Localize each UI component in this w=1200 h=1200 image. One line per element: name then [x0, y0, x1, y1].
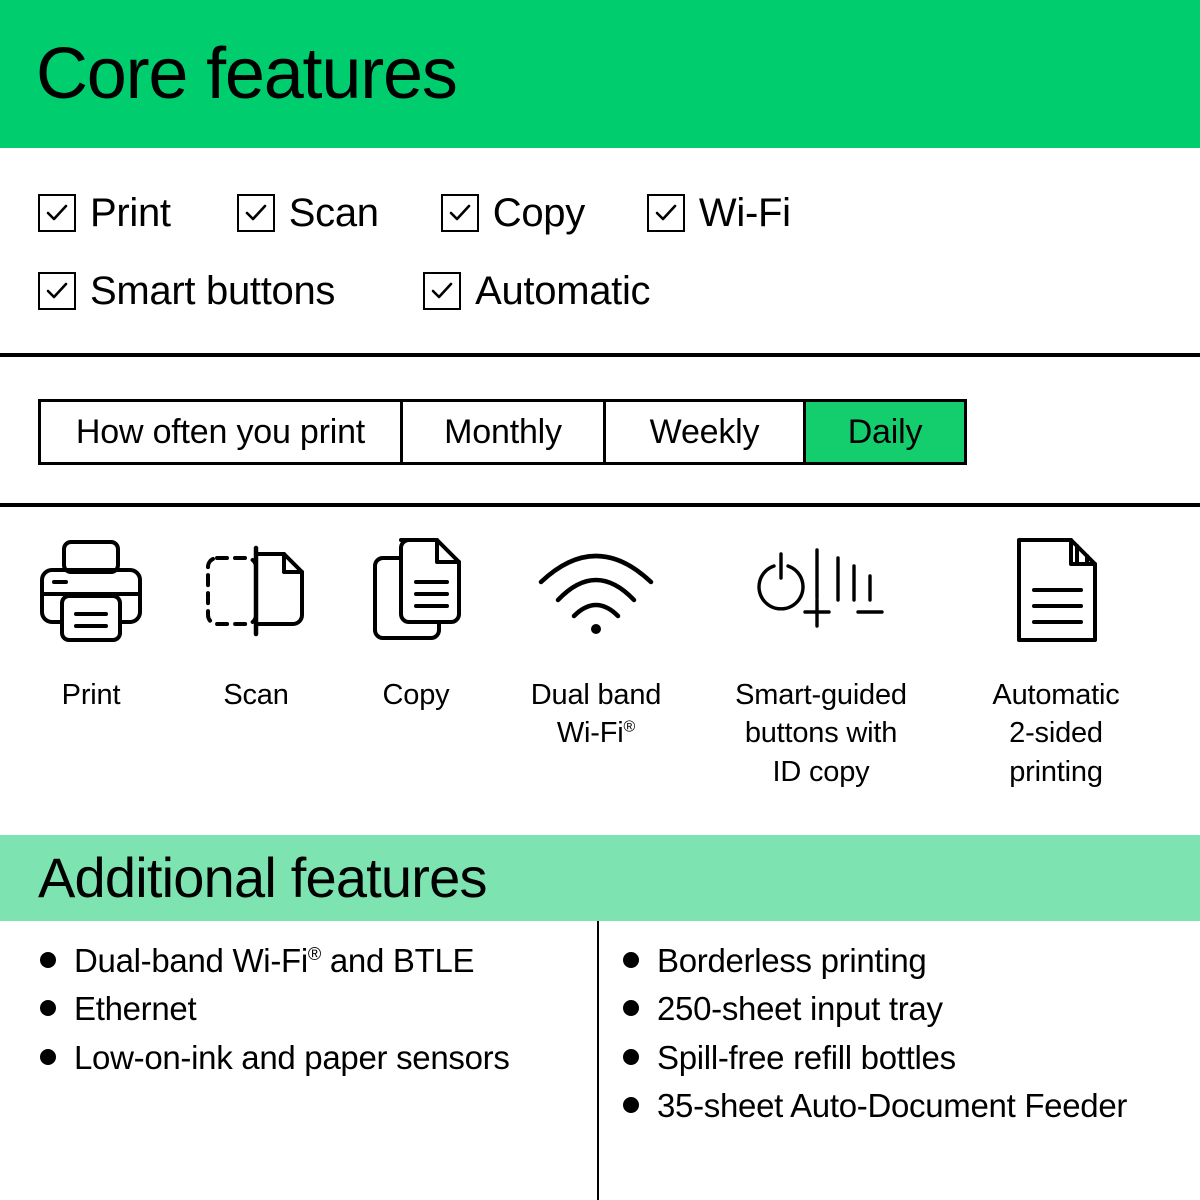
wifi-icon — [533, 520, 659, 660]
checkmark-icon — [441, 194, 479, 232]
core-features-banner: Core features — [0, 0, 1200, 148]
list-item-label: Ethernet — [74, 990, 196, 1028]
checkbox-label: Wi-Fi — [699, 193, 791, 233]
additional-features-right-column: Borderless printing 250-sheet input tray… — [597, 921, 1200, 1200]
bullet-icon — [623, 1097, 639, 1113]
checkmark-icon — [423, 272, 461, 310]
additional-features-left-column: Dual-band Wi-Fi® and BTLE Ethernet Low-o… — [0, 921, 597, 1200]
checkbox-item-wifi[interactable]: Wi-Fi — [647, 193, 791, 233]
feature-smart-guided-buttons: Smart-guided buttons with ID copy — [696, 520, 946, 791]
checkbox-item-scan[interactable]: Scan — [237, 193, 379, 233]
bullet-icon — [40, 1049, 56, 1065]
feature-label: Print — [62, 676, 121, 714]
duplex-document-icon — [1005, 520, 1107, 660]
checkmark-icon — [38, 272, 76, 310]
registered-mark: ® — [308, 944, 321, 964]
bullet-icon — [623, 952, 639, 968]
checkmark-icon — [237, 194, 275, 232]
list-item: 35-sheet Auto-Document Feeder — [623, 1087, 1200, 1125]
checkmark-icon — [38, 194, 76, 232]
core-features-checkbox-area: Print Scan Copy Wi-Fi — [0, 148, 1200, 355]
checkbox-label: Print — [90, 193, 171, 233]
checkbox-item-copy[interactable]: Copy — [441, 193, 585, 233]
frequency-option-weekly[interactable]: Weekly — [606, 402, 806, 462]
section-divider-top — [0, 353, 1200, 357]
checkbox-label: Scan — [289, 193, 379, 233]
smart-buttons-icon — [751, 520, 891, 660]
list-item-label: Spill-free refill bottles — [657, 1039, 956, 1077]
list-item-label: Low-on-ink and paper sensors — [74, 1039, 510, 1077]
checkbox-item-smart-buttons[interactable]: Smart buttons — [38, 271, 335, 311]
frequency-option-monthly[interactable]: Monthly — [403, 402, 606, 462]
bullet-icon — [40, 952, 56, 968]
list-item-label: Borderless printing — [657, 942, 926, 980]
checkbox-row-2: Smart buttons Automatic — [38, 258, 1200, 324]
print-frequency-selector: How often you print Monthly Weekly Daily — [38, 399, 967, 465]
printer-icon — [33, 520, 149, 660]
list-item-label: 250-sheet input tray — [657, 990, 943, 1028]
frequency-option-daily[interactable]: Daily — [806, 402, 964, 462]
additional-features-lists: Dual-band Wi-Fi® and BTLE Ethernet Low-o… — [0, 921, 1200, 1200]
checkbox-label: Automatic — [475, 271, 650, 311]
checkmark-icon — [647, 194, 685, 232]
bullet-icon — [623, 1049, 639, 1065]
checkbox-item-print[interactable]: Print — [38, 193, 171, 233]
registered-mark: ® — [624, 719, 636, 736]
checkbox-item-automatic[interactable]: Automatic — [423, 271, 650, 311]
frequency-question-label: How often you print — [41, 402, 403, 462]
feature-label: Scan — [223, 676, 288, 714]
copy-documents-icon — [361, 520, 471, 660]
feature-icon-row: Print Scan — [0, 520, 1200, 791]
list-item: Dual-band Wi-Fi® and BTLE — [40, 942, 597, 980]
core-features-title: Core features — [36, 38, 457, 110]
list-item-label: 35-sheet Auto-Document Feeder — [657, 1087, 1127, 1125]
feature-label: Smart-guided buttons with ID copy — [735, 676, 907, 791]
scanner-icon — [200, 520, 312, 660]
bullet-icon — [623, 1000, 639, 1016]
list-item: Borderless printing — [623, 942, 1200, 980]
feature-label: Automatic 2-sided printing — [992, 676, 1119, 791]
checkbox-row-1: Print Scan Copy Wi-Fi — [38, 180, 1200, 246]
list-item: Ethernet — [40, 990, 597, 1028]
feature-print: Print — [6, 520, 176, 791]
bullet-icon — [40, 1000, 56, 1016]
feature-dual-band-wifi: Dual band Wi-Fi® — [496, 520, 696, 791]
feature-label: Copy — [383, 676, 450, 714]
checkbox-label: Smart buttons — [90, 271, 335, 311]
feature-automatic-two-sided: Automatic 2-sided printing — [946, 520, 1166, 791]
core-features-infographic: Core features Print Scan Copy — [0, 0, 1200, 1200]
feature-copy: Copy — [336, 520, 496, 791]
feature-scan: Scan — [176, 520, 336, 791]
additional-features-title: Additional features — [38, 850, 487, 906]
checkbox-label: Copy — [493, 193, 585, 233]
list-item: Spill-free refill bottles — [623, 1039, 1200, 1077]
section-divider-bottom — [0, 503, 1200, 507]
list-item-label: Dual-band Wi-Fi® and BTLE — [74, 942, 474, 980]
feature-label: Dual band Wi-Fi® — [531, 676, 661, 753]
list-item: Low-on-ink and paper sensors — [40, 1039, 597, 1077]
additional-features-banner: Additional features — [0, 835, 1200, 921]
list-item: 250-sheet input tray — [623, 990, 1200, 1028]
